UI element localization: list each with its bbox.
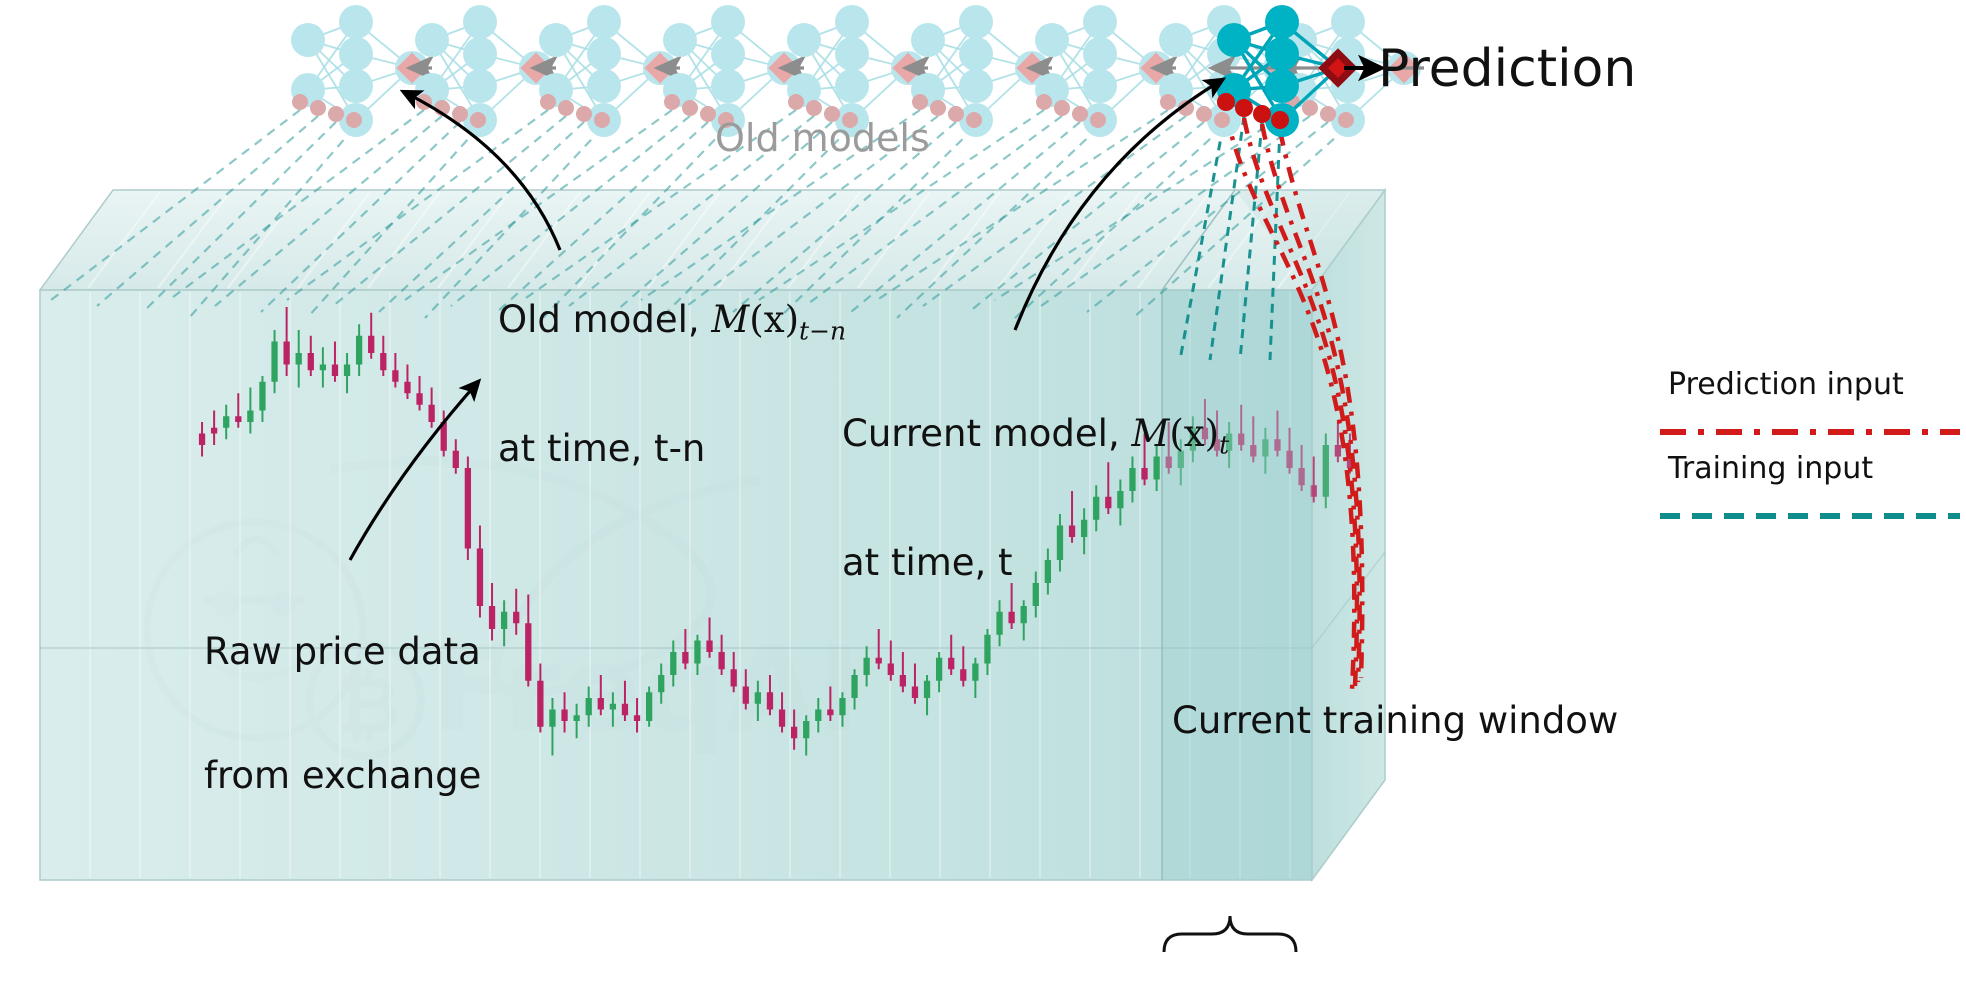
- old-models-label: Old models: [715, 117, 930, 160]
- old-model-6: [1035, 5, 1173, 137]
- annotation-current-model: Current model, M(x)t at time, t: [842, 330, 1229, 667]
- current-training-window-label: Current training window: [1172, 700, 1618, 741]
- legend-label-prediction-input: Prediction input: [1668, 368, 1904, 402]
- current-model-text-line2: at time, t: [842, 542, 1229, 583]
- training-window-brace: [1164, 916, 1296, 952]
- current-model-math-x: (x): [1169, 412, 1219, 455]
- old-model-text-line2: at time, t-n: [498, 428, 846, 469]
- current-model-math-sub: t: [1219, 430, 1229, 459]
- annotation-old-model: Old model, M(x)t−n at time, t-n: [498, 216, 846, 553]
- raw-price-line1: Raw price data: [204, 631, 481, 672]
- current-model-math-m: M: [1131, 412, 1169, 455]
- current-model-text-pre: Current model,: [842, 412, 1131, 455]
- old-model-5: [911, 5, 1049, 137]
- old-model-2: [539, 5, 677, 137]
- diagram-root: FreqAI ₿: [0, 0, 1966, 981]
- old-model-math-sub: t−n: [799, 316, 846, 345]
- old-model-math-m: M: [711, 298, 749, 341]
- annotation-raw-price: Raw price data from exchange: [204, 548, 481, 880]
- raw-price-line2: from exchange: [204, 755, 481, 796]
- old-model-text-pre: Old model,: [498, 298, 711, 341]
- old-model-math-x: (x): [749, 298, 799, 341]
- legend-label-training-input: Training input: [1668, 452, 1873, 486]
- old-model-0: [291, 5, 429, 137]
- prediction-label: Prediction: [1378, 40, 1636, 98]
- old-model-1: [415, 5, 553, 137]
